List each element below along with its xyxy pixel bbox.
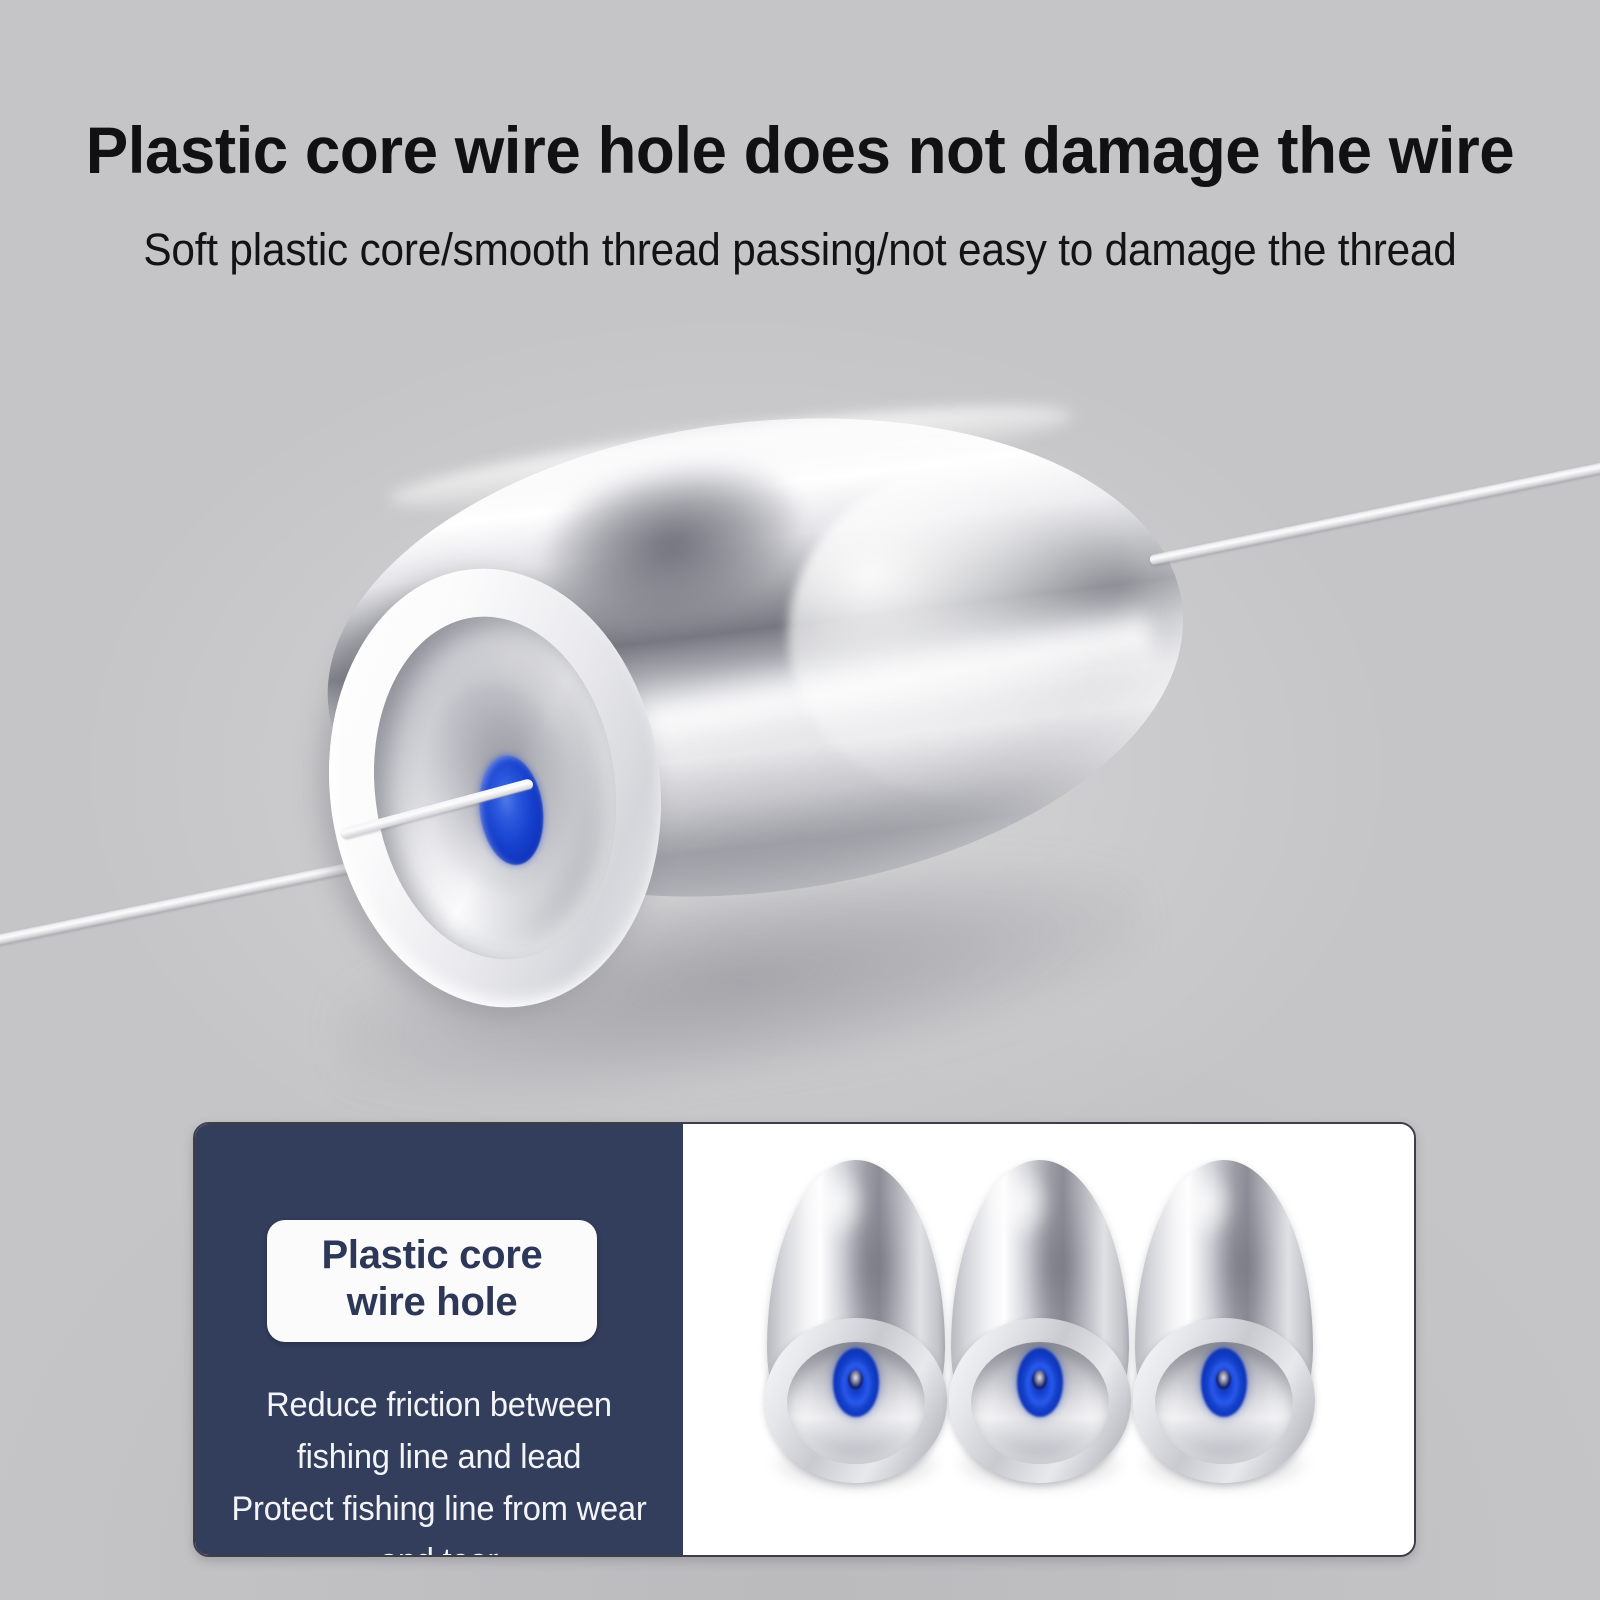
feature-description: Reduce friction between fishing line and… (216, 1379, 661, 1557)
feature-description-line-2: fishing line and lead (216, 1431, 661, 1483)
feature-panel-image-side (683, 1124, 1414, 1555)
sinker-1-tip-highlight (804, 1167, 867, 1240)
sinker-2-wire-hole (1032, 1370, 1047, 1390)
fishing-line-right-segment (1149, 455, 1600, 566)
sinker-3-wire-hole (1216, 1370, 1231, 1390)
sinker-1-wire-hole (848, 1370, 863, 1390)
hero-product-image (0, 380, 1600, 1080)
product-infographic: Plastic core wire hole does not damage t… (0, 0, 1600, 1600)
page-subtitle: Soft plastic core/smooth thread passing/… (48, 222, 1552, 278)
feature-description-line-1: Reduce friction between (216, 1379, 661, 1431)
page-title: Plastic core wire hole does not damage t… (28, 112, 1572, 188)
feature-badge: Plastic core wire hole (267, 1220, 597, 1342)
hero-sinker-open-end (304, 550, 685, 1027)
sinker-thumbnail-1 (763, 1160, 949, 1490)
feature-panel-text-side: Plastic core wire hole Reduce friction b… (195, 1124, 683, 1555)
feature-panel: Plastic core wire hole Reduce friction b… (193, 1122, 1416, 1557)
sinker-thumbnail-2 (947, 1160, 1133, 1490)
feature-badge-line-2: wire hole (281, 1279, 583, 1326)
sinker-3-tip-highlight (1172, 1167, 1235, 1240)
feature-badge-line-1: Plastic core (281, 1232, 583, 1279)
sinker-2-tip-highlight (988, 1167, 1051, 1240)
feature-description-line-3: Protect fishing line from wear (216, 1483, 661, 1535)
sinker-thumbnail-3 (1131, 1160, 1317, 1490)
feature-description-line-4: and tear (216, 1535, 661, 1557)
